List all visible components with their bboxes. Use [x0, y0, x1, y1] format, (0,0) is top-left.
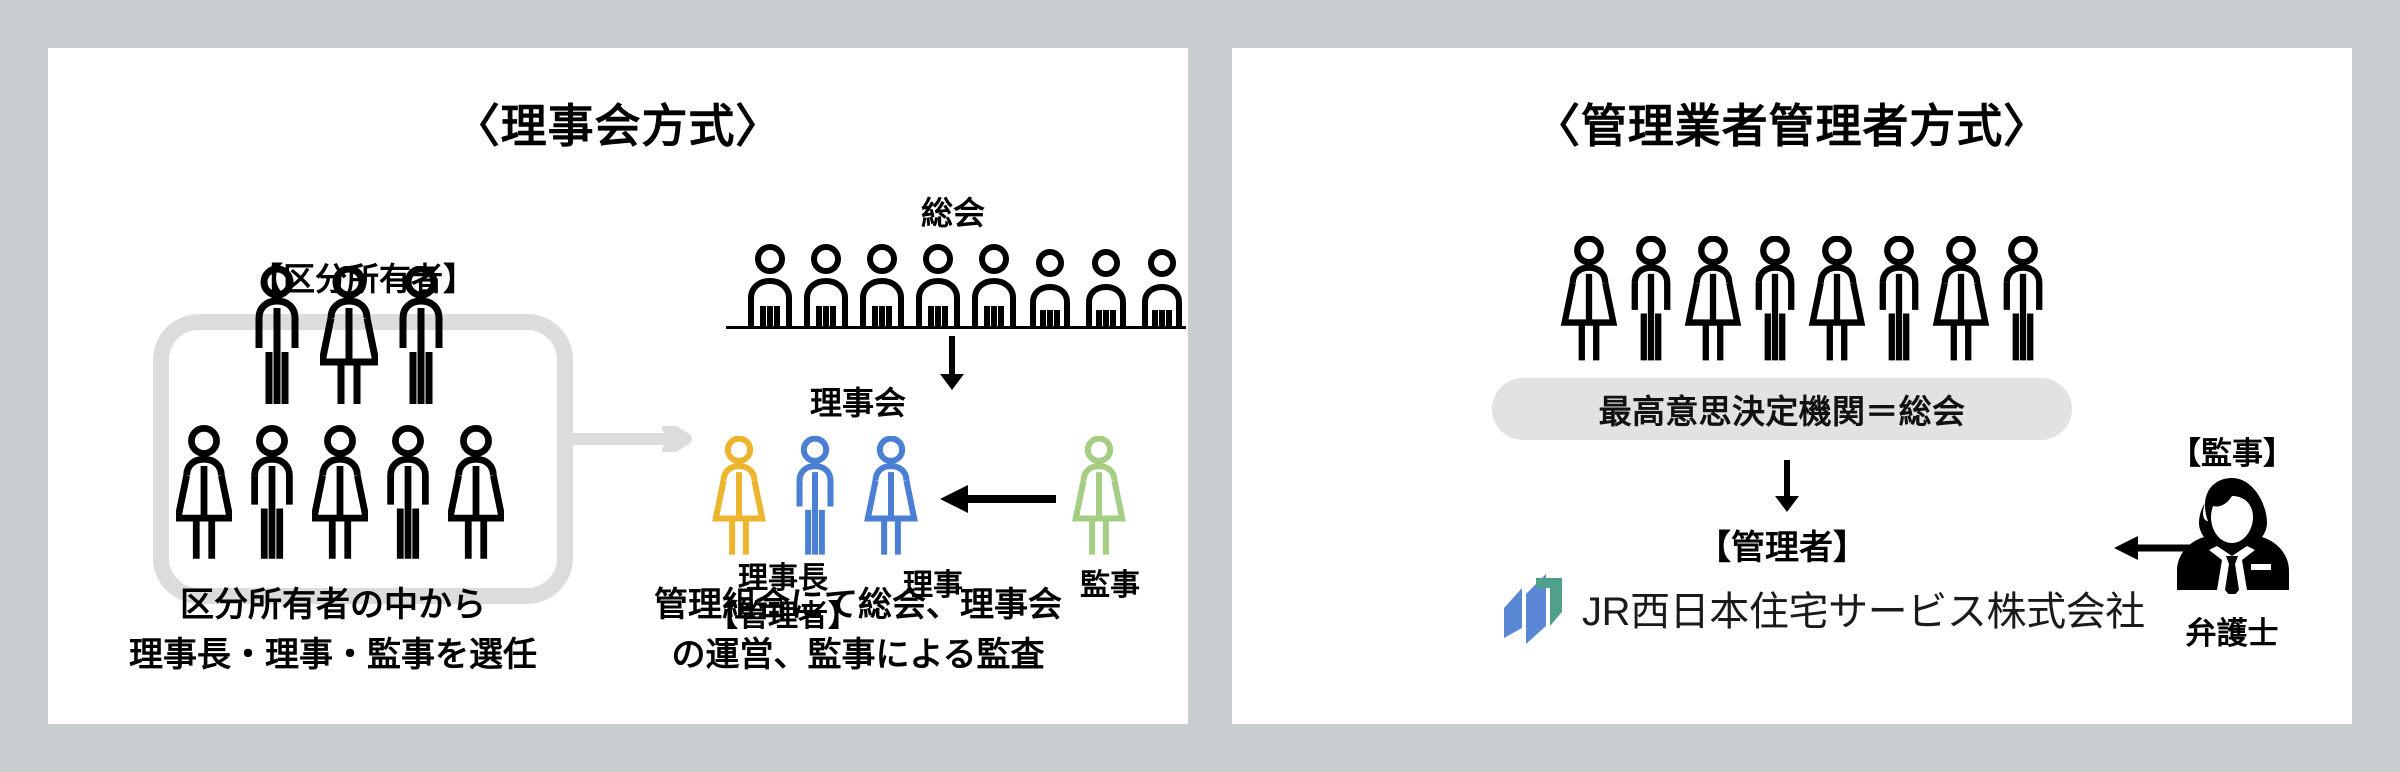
company-logo-block: JR西日本住宅サービス株式会社 [1500, 572, 2145, 644]
caption-owners-select: 区分所有者の中から 理事長・理事・監事を選任 [118, 581, 548, 680]
person-female-icon [1808, 236, 1866, 364]
sogokai-label: 総会 [921, 188, 985, 234]
person-seated-icon [801, 244, 851, 330]
person-male-icon [244, 424, 300, 564]
person-female-rijicho-icon [708, 436, 770, 558]
panel-rijikai-method: 〈理事会方式〉 【区分所有者】 [48, 48, 1188, 724]
person-male-icon [248, 266, 306, 408]
person-seated-icon [745, 244, 795, 330]
person-female-icon [448, 424, 504, 564]
jr-nishinihon-logo-icon [1500, 572, 1566, 644]
businessman-avatar-icon [2173, 472, 2291, 594]
person-male-icon [1622, 236, 1680, 364]
supreme-decision-body-pill: 最高意思決定機関＝総会 [1492, 378, 2072, 440]
person-female-icon [176, 424, 232, 564]
caption-association-operation: 管理組合にて総会、理事会 の運営、監事による監査 [608, 581, 1108, 680]
page-title-right: 〈管理業者管理者方式〉 [1232, 90, 2352, 156]
rijikai-label: 理事会 [810, 378, 906, 424]
person-female-icon [320, 266, 378, 408]
person-seated-icon [1081, 244, 1131, 330]
kanji-label-right: 【監事】 [2170, 428, 2294, 473]
person-male-icon [1870, 236, 1928, 364]
kanrisha-label: 【管理者】 [1697, 520, 1867, 569]
person-seated-icon [969, 244, 1019, 330]
person-female-riji-icon [860, 436, 922, 558]
person-female-icon [312, 424, 368, 564]
person-female-icon [1560, 236, 1618, 364]
arrow-down-icon [1770, 460, 1804, 516]
company-name: JR西日本住宅サービス株式会社 [1582, 579, 2145, 637]
arrow-left-icon [938, 484, 1056, 514]
meeting-table-line [726, 326, 1186, 329]
right-people-row [1560, 236, 2052, 364]
person-seated-icon [913, 244, 963, 330]
page-title-left: 〈理事会方式〉 [48, 90, 1188, 156]
person-male-icon [392, 266, 450, 408]
person-male-icon [1994, 236, 2052, 364]
rijikai-figures [708, 436, 922, 558]
person-seated-icon [1025, 244, 1075, 330]
person-female-icon [1932, 236, 1990, 364]
diagram-canvas: 〈理事会方式〉 【区分所有者】 [0, 0, 2400, 772]
arrow-down-icon [935, 336, 969, 394]
person-seated-icon [1137, 244, 1187, 330]
arrow-left-icon [2112, 534, 2204, 562]
flow-arrow-right-icon [568, 426, 698, 452]
kanji-figure [1068, 436, 1130, 563]
owners-bottom-row [176, 424, 504, 564]
person-male-riji-icon [784, 436, 846, 558]
person-female-kanji-icon [1068, 436, 1130, 558]
person-seated-icon [857, 244, 907, 330]
lawyer-label: 弁護士 [2186, 608, 2279, 653]
person-male-icon [380, 424, 436, 564]
owners-top-row [248, 266, 450, 408]
person-male-icon [1746, 236, 1804, 364]
sogokai-seated-row [745, 244, 1187, 330]
person-female-icon [1684, 236, 1742, 364]
